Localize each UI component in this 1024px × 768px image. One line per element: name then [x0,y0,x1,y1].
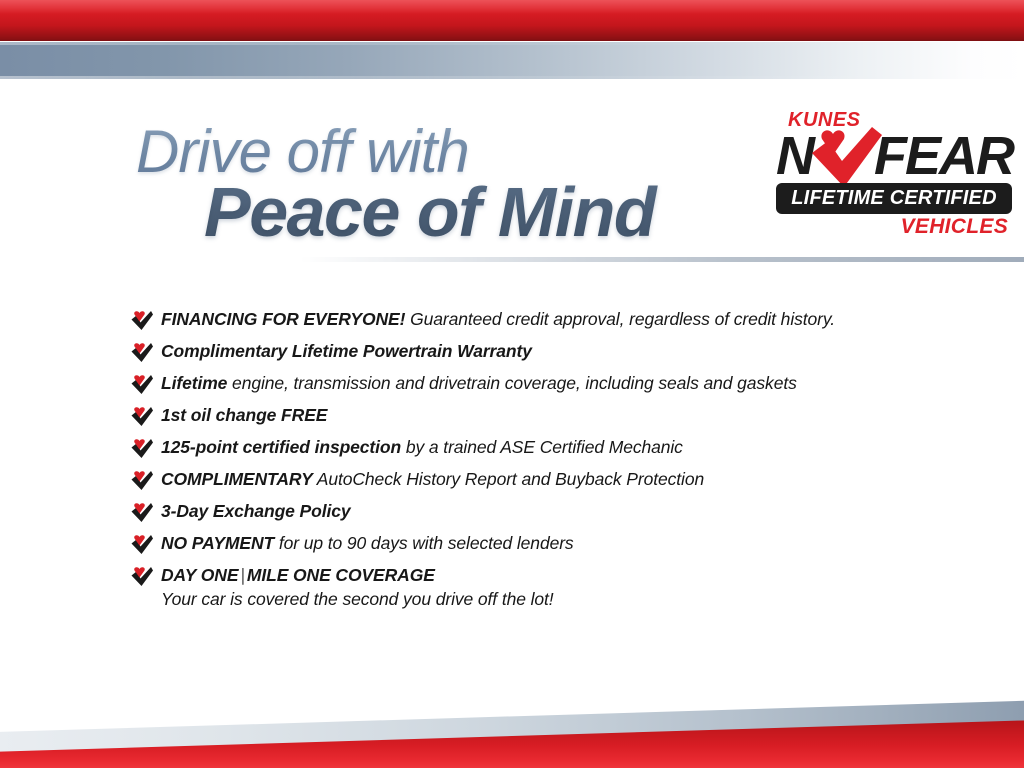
list-item-text-group: DAY ONE|MILE ONE COVERAGE Your car is co… [161,564,554,610]
promo-poster: Drive off with Peace of Mind KUNES N FEA… [0,0,1024,768]
kunes-no-fear-logo: KUNES N FEAR LIFETIME CERTIFIED VEHICLES [776,110,1012,242]
list-item: 125-point certified inspection by a trai… [130,436,970,468]
list-item-text: NO PAYMENT for up to 90 days with select… [161,532,574,554]
headline-block: Drive off with Peace of Mind [136,122,836,250]
check-heart-bullet-icon [130,470,154,492]
top-gray-band-bottom-edge [0,76,1024,79]
list-item: Lifetime engine, transmission and drivet… [130,372,970,404]
check-heart-bullet-icon [130,342,154,364]
logo-lifetime-certified-text: LIFETIME CERTIFIED [776,187,1012,209]
check-heart-bullet-icon [130,374,154,396]
list-item: DAY ONE|MILE ONE COVERAGE Your car is co… [130,564,970,612]
list-item-text: 125-point certified inspection by a trai… [161,436,683,458]
list-item-rest: for up to 90 days with selected lenders [274,533,574,553]
list-item: 3-Day Exchange Policy [130,500,970,532]
list-item-bold: Complimentary Lifetime Powertrain Warran… [161,341,532,361]
list-item-bold: COMPLIMENTARY [161,469,313,489]
logo-word-fear: FEAR [874,129,1013,183]
list-item: Complimentary Lifetime Powertrain Warran… [130,340,970,372]
list-item-bold: FINANCING FOR EVERYONE! [161,309,405,329]
list-item-bold-2: MILE ONE COVERAGE [247,565,435,585]
list-item-bold: 3-Day Exchange Policy [161,501,351,521]
check-heart-bullet-icon [130,438,154,460]
list-item-bold: 1st oil change FREE [161,405,327,425]
list-item-text: Complimentary Lifetime Powertrain Warran… [161,340,532,362]
logo-vehicles-text: VEHICLES [901,216,1008,237]
check-heart-bullet-icon [130,534,154,556]
check-heart-bullet-icon [130,502,154,524]
list-item-text: 1st oil change FREE [161,404,327,426]
logo-wordmark: N FEAR [776,129,1012,185]
list-item: NO PAYMENT for up to 90 days with select… [130,532,970,564]
list-item-text: COMPLIMENTARY AutoCheck History Report a… [161,468,704,490]
top-red-band-shine [0,0,1024,14]
list-item: FINANCING FOR EVERYONE! Guaranteed credi… [130,308,970,340]
list-item-rest: engine, transmission and drivetrain cove… [227,373,796,393]
feature-list: FINANCING FOR EVERYONE! Guaranteed credi… [130,308,970,612]
logo-lifetime-certified-bar: LIFETIME CERTIFIED [776,183,1012,214]
list-item-rest: by a trained ASE Certified Mechanic [401,437,683,457]
top-red-band [0,0,1024,41]
list-item: COMPLIMENTARY AutoCheck History Report a… [130,468,970,500]
list-item-bold: Lifetime [161,373,227,393]
list-item-separator: | [238,565,246,585]
top-gray-band [0,42,1024,79]
list-item-text: Lifetime engine, transmission and drivet… [161,372,797,394]
list-item-text: DAY ONE|MILE ONE COVERAGE [161,564,554,586]
top-gray-band-top-edge [0,42,1024,45]
list-item-text: 3-Day Exchange Policy [161,500,351,522]
list-item-subtext: Your car is covered the second you drive… [161,589,554,610]
list-item-bold: 125-point certified inspection [161,437,401,457]
check-heart-bullet-icon [130,310,154,332]
list-item-text: FINANCING FOR EVERYONE! Guaranteed credi… [161,308,835,330]
list-item: 1st oil change FREE [130,404,970,436]
list-item-bold: DAY ONE [161,565,238,585]
headline-line-2: Peace of Mind [204,176,836,250]
list-item-bold: NO PAYMENT [161,533,274,553]
list-item-rest: Guaranteed credit approval, regardless o… [405,309,835,329]
check-heart-bullet-icon [130,406,154,428]
check-heart-bullet-icon [130,566,154,588]
list-item-rest: AutoCheck History Report and Buyback Pro… [313,469,704,489]
headline-divider [300,257,1024,262]
